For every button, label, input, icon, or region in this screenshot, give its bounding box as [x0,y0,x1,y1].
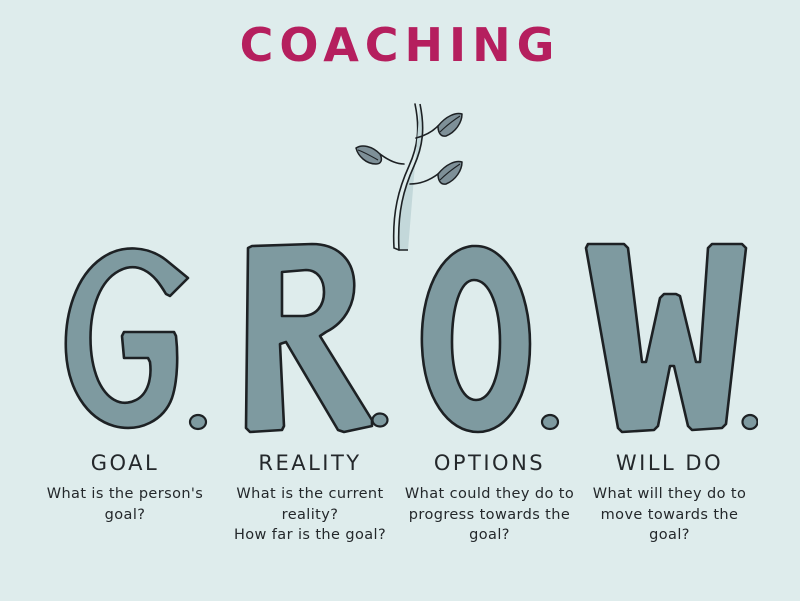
column-line: How far is the goal? [215,525,405,546]
column-heading-goal: GOAL [30,452,220,475]
column-goal: GOAL What is the person's goal? [30,452,220,525]
letter-w [578,232,758,447]
column-line: goal? [392,525,587,546]
column-line: move towards the [572,505,767,526]
sprout-plant-illustration [352,92,472,252]
column-body-reality: What is the current reality? How far is … [215,484,405,546]
letter-o [410,232,570,447]
letter-g [48,232,218,447]
column-line: goal? [572,525,767,546]
grow-columns: GOAL What is the person's goal? REALITY … [0,452,800,572]
column-heading-will-do: WILL DO [572,452,767,475]
letter-g-period [190,415,206,429]
column-reality: REALITY What is the current reality? How… [215,452,405,546]
column-body-goal: What is the person's goal? [30,484,220,525]
column-line: progress towards the [392,505,587,526]
column-will-do: WILL DO What will they do to move toward… [572,452,767,546]
column-heading-options: OPTIONS [392,452,587,475]
column-line: goal? [30,505,220,526]
column-line: What is the person's [30,484,220,505]
column-options: OPTIONS What could they do to progress t… [392,452,587,546]
column-heading-reality: REALITY [215,452,405,475]
coaching-grow-poster: COACHING [0,0,800,601]
leaf-icon [438,114,462,137]
leaf-icon [438,162,462,185]
letter-r [228,232,393,447]
letter-r-period [373,414,388,427]
column-body-options: What could they do to progress towards t… [392,484,587,546]
column-body-will-do: What will they do to move towards the go… [572,484,767,546]
column-line: What is the current [215,484,405,505]
leaf-icon [356,146,381,164]
column-line: What could they do to [392,484,587,505]
grow-letters [0,232,800,447]
page-title: COACHING [0,22,800,68]
column-line: reality? [215,505,405,526]
letter-o-period [542,415,558,429]
column-line: What will they do to [572,484,767,505]
letter-w-period [743,415,758,429]
